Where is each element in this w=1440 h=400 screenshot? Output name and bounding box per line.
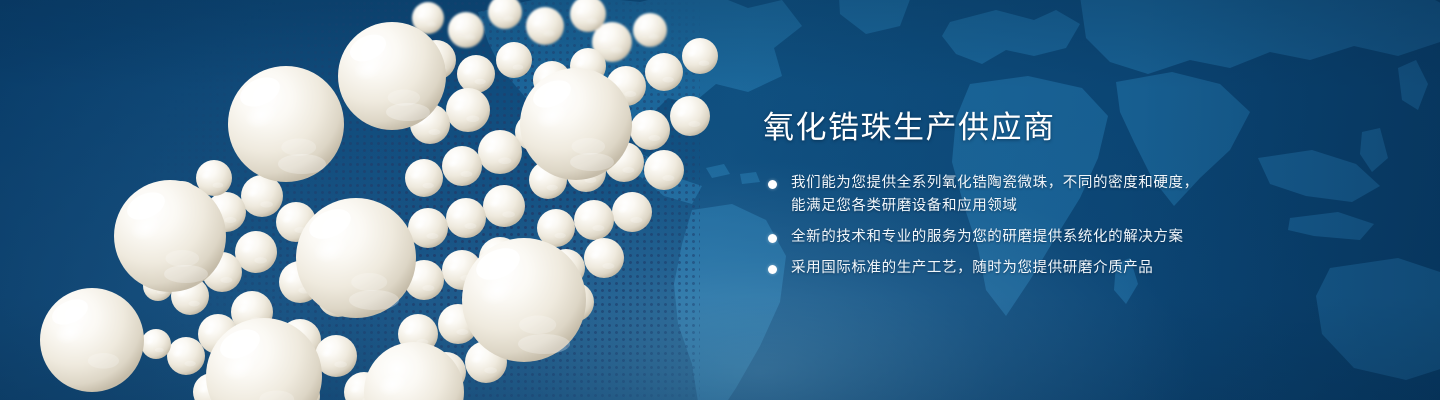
bullet-dot-icon bbox=[768, 180, 777, 189]
list-item-line: 全新的技术和专业的服务为您的研磨提供系统化的解决方案 bbox=[791, 226, 1383, 249]
banner-copy: 氧化锆珠生产供应商 我们能为您提供全系列氧化锆陶瓷微珠，不同的密度和硬度， 能满… bbox=[763, 108, 1383, 280]
list-item-line: 采用国际标准的生产工艺，随时为您提供研磨介质产品 bbox=[791, 257, 1383, 280]
list-item: 我们能为您提供全系列氧化锆陶瓷微珠，不同的密度和硬度， 能满足您各类研磨设备和应… bbox=[763, 172, 1383, 218]
bullet-dot-icon bbox=[768, 234, 777, 243]
hero-banner: 氧化锆珠生产供应商 我们能为您提供全系列氧化锆陶瓷微珠，不同的密度和硬度， 能满… bbox=[0, 0, 1440, 400]
bullet-dot-icon bbox=[768, 265, 777, 274]
page-title: 氧化锆珠生产供应商 bbox=[763, 108, 1383, 148]
feature-list: 我们能为您提供全系列氧化锆陶瓷微珠，不同的密度和硬度， 能满足您各类研磨设备和应… bbox=[763, 172, 1383, 280]
list-item: 全新的技术和专业的服务为您的研磨提供系统化的解决方案 bbox=[763, 226, 1383, 249]
list-item: 采用国际标准的生产工艺，随时为您提供研磨介质产品 bbox=[763, 257, 1383, 280]
list-item-line: 我们能为您提供全系列氧化锆陶瓷微珠，不同的密度和硬度， bbox=[791, 172, 1383, 195]
list-item-line: 能满足您各类研磨设备和应用领域 bbox=[791, 195, 1383, 218]
